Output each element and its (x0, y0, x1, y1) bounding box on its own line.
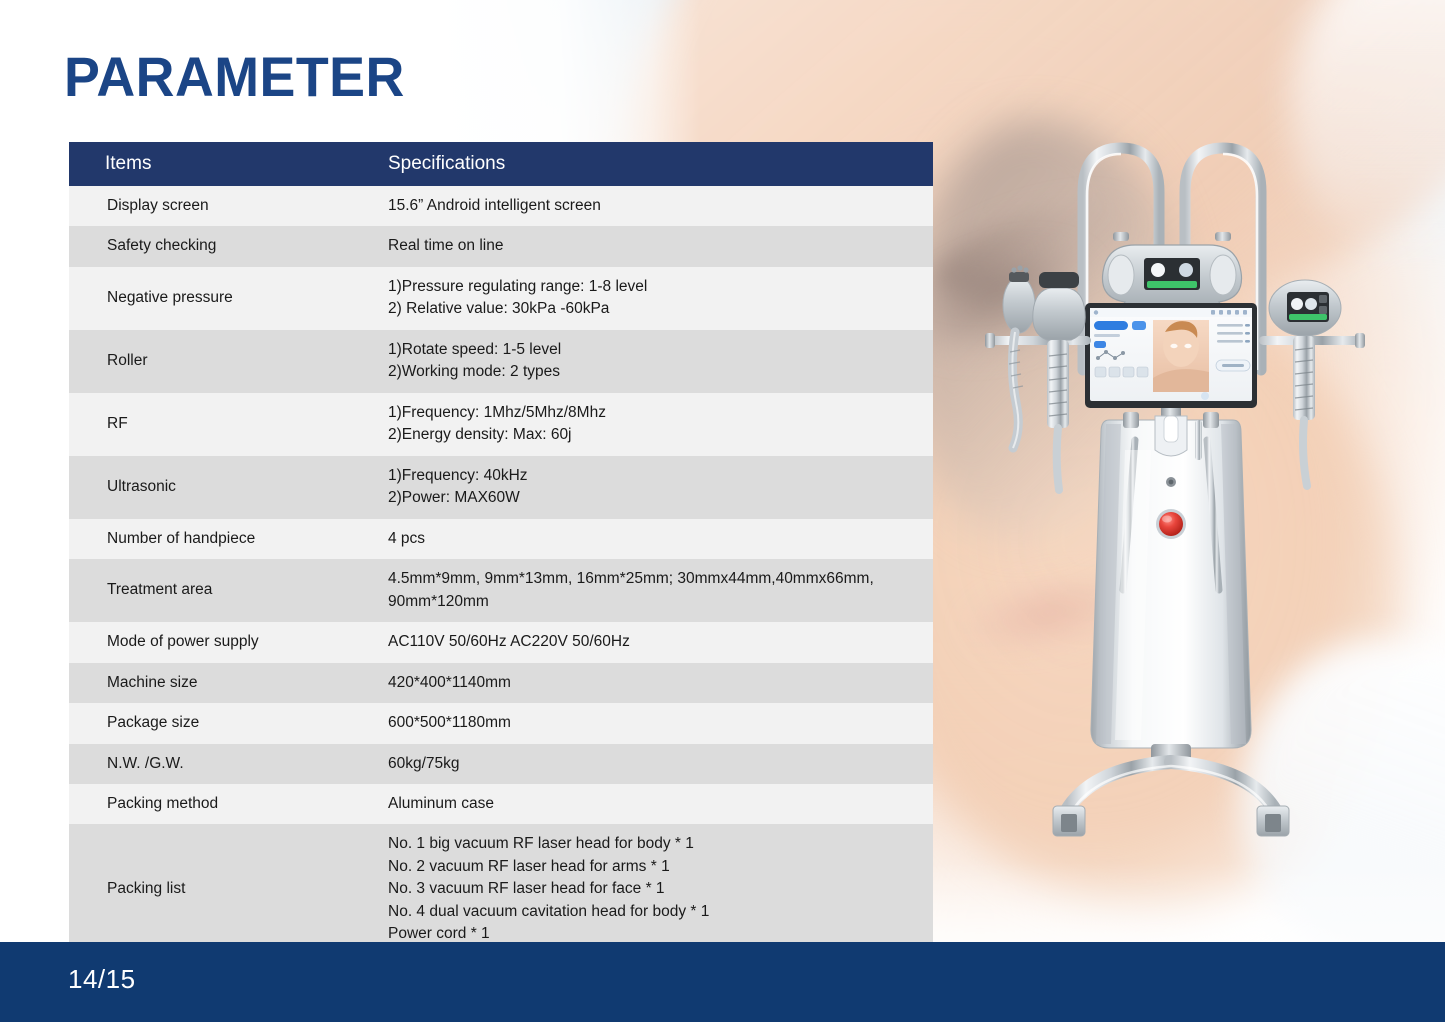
spec-line: 2)Power: MAX60W (388, 487, 915, 509)
spec-line: 2)Energy density: Max: 60j (388, 424, 915, 446)
spec-line: Aluminum case (388, 793, 915, 815)
machine-base (1053, 744, 1289, 836)
cell-specification: 60kg/75kg (347, 744, 933, 784)
handpiece-right-group (1259, 280, 1365, 486)
table-row: Safety checkingReal time on line (69, 226, 933, 266)
column-header-items: Items (69, 142, 347, 186)
cell-specification: Aluminum case (347, 784, 933, 824)
spec-line: 90mm*120mm (388, 591, 915, 613)
cell-specification: 600*500*1180mm (347, 703, 933, 743)
cell-item-name: Package size (69, 703, 347, 743)
table-row: Negative pressure1)Pressure regulating r… (69, 267, 933, 330)
cell-item-name: Roller (69, 330, 347, 393)
cell-specification: No. 1 big vacuum RF laser head for body … (347, 824, 933, 954)
spec-line: No. 3 vacuum RF laser head for face * 1 (388, 878, 915, 900)
specifications-table: Items Specifications Display screen15.6”… (69, 142, 933, 955)
spec-line: Real time on line (388, 235, 915, 257)
footer-page-number: 14/15 (68, 964, 136, 995)
cell-specification: 15.6” Android intelligent screen (347, 186, 933, 226)
cell-item-name: Display screen (69, 186, 347, 226)
cell-item-name: Number of handpiece (69, 519, 347, 559)
cell-specification: 420*400*1140mm (347, 663, 933, 703)
table-row: Packing methodAluminum case (69, 784, 933, 824)
table-row: Machine size420*400*1140mm (69, 663, 933, 703)
handpiece-left-group (985, 265, 1091, 490)
cell-specification: 1)Pressure regulating range: 1-8 level2)… (347, 267, 933, 330)
table-row: Ultrasonic1)Frequency: 40kHz2)Power: MAX… (69, 456, 933, 519)
machine-body (1091, 412, 1251, 748)
spec-line: 4 pcs (388, 528, 915, 550)
table-body: Display screen15.6” Android intelligent … (69, 186, 933, 955)
spec-line: 600*500*1180mm (388, 712, 915, 734)
cell-item-name: RF (69, 393, 347, 456)
table-row: Packing listNo. 1 big vacuum RF laser he… (69, 824, 933, 954)
spec-line: 2) Relative value: 30kPa -60kPa (388, 298, 915, 320)
cell-specification: 1)Rotate speed: 1-5 level2)Working mode:… (347, 330, 933, 393)
spec-line: 15.6” Android intelligent screen (388, 195, 915, 217)
cell-item-name: Ultrasonic (69, 456, 347, 519)
footer-bar: 14/15 (0, 942, 1445, 1022)
machine-touchscreen (1085, 303, 1257, 424)
cell-specification: Real time on line (347, 226, 933, 266)
product-machine-image (975, 120, 1375, 860)
table-row: Number of handpiece4 pcs (69, 519, 933, 559)
table-row: Display screen15.6” Android intelligent … (69, 186, 933, 226)
spec-line: 1)Frequency: 40kHz (388, 465, 915, 487)
spec-line: 420*400*1140mm (388, 672, 915, 694)
cell-specification: 4.5mm*9mm, 9mm*13mm, 16mm*25mm; 30mmx44m… (347, 559, 933, 622)
table-header: Items Specifications (69, 142, 933, 186)
cell-specification: 1)Frequency: 40kHz2)Power: MAX60W (347, 456, 933, 519)
spec-line: 2)Working mode: 2 types (388, 361, 915, 383)
cell-specification: AC110V 50/60Hz AC220V 50/60Hz (347, 622, 933, 662)
column-header-specifications: Specifications (347, 142, 933, 186)
cell-item-name: Machine size (69, 663, 347, 703)
table-row: Treatment area4.5mm*9mm, 9mm*13mm, 16mm*… (69, 559, 933, 622)
cell-item-name: Mode of power supply (69, 622, 347, 662)
table-row: Package size600*500*1180mm (69, 703, 933, 743)
spec-line: 1)Rotate speed: 1-5 level (388, 339, 915, 361)
table-row: RF1)Frequency: 1Mhz/5Mhz/8Mhz2)Energy de… (69, 393, 933, 456)
table-header-row: Items Specifications (69, 142, 933, 186)
cell-item-name: Treatment area (69, 559, 347, 622)
cell-item-name: N.W. /G.W. (69, 744, 347, 784)
cell-item-name: Negative pressure (69, 267, 347, 330)
cell-item-name: Safety checking (69, 226, 347, 266)
spec-line: No. 4 dual vacuum cavitation head for bo… (388, 901, 915, 923)
cell-item-name: Packing list (69, 824, 347, 954)
spec-line: AC110V 50/60Hz AC220V 50/60Hz (388, 631, 915, 653)
table-row: N.W. /G.W.60kg/75kg (69, 744, 933, 784)
table-row: Roller1)Rotate speed: 1-5 level2)Working… (69, 330, 933, 393)
spec-line: No. 1 big vacuum RF laser head for body … (388, 833, 915, 855)
cell-specification: 4 pcs (347, 519, 933, 559)
spec-line: 1)Frequency: 1Mhz/5Mhz/8Mhz (388, 402, 915, 424)
spec-line: 1)Pressure regulating range: 1-8 level (388, 276, 915, 298)
spec-line: 60kg/75kg (388, 753, 915, 775)
spec-line: 4.5mm*9mm, 9mm*13mm, 16mm*25mm; 30mmx44m… (388, 568, 915, 590)
table-row: Mode of power supplyAC110V 50/60Hz AC220… (69, 622, 933, 662)
cell-specification: 1)Frequency: 1Mhz/5Mhz/8Mhz2)Energy dens… (347, 393, 933, 456)
spec-line: No. 2 vacuum RF laser head for arms * 1 (388, 856, 915, 878)
cell-item-name: Packing method (69, 784, 347, 824)
page-title: PARAMETER (64, 44, 405, 109)
